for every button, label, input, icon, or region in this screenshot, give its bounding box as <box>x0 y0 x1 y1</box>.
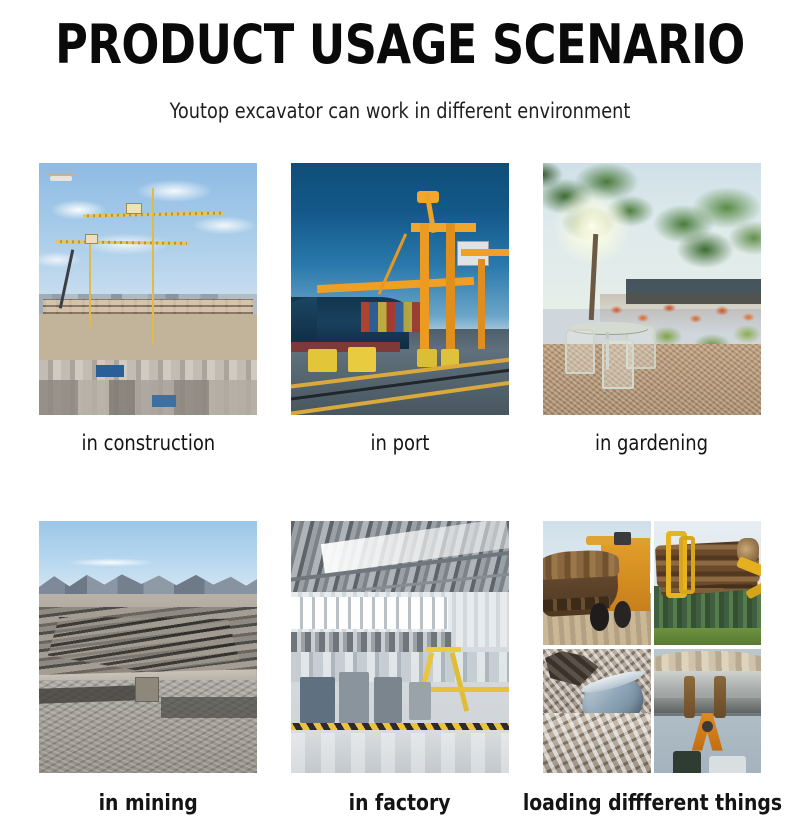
helicopter-icon <box>50 176 72 181</box>
gardening-photo <box>543 163 761 415</box>
second-crane-leg <box>478 259 485 350</box>
foreground-rubble <box>543 713 651 773</box>
patio-chair <box>602 339 634 388</box>
construction-slab-layer <box>39 380 257 415</box>
scenario-card-gardening[interactable]: in gardening <box>543 163 761 455</box>
tower-crane-mast-secondary <box>89 241 91 327</box>
yellow-guard-rail <box>417 687 509 692</box>
loading-collage-photo <box>543 521 761 773</box>
yellow-terminal-truck <box>308 349 336 372</box>
loader-wheel <box>590 603 608 630</box>
floor-reflection <box>291 733 509 773</box>
gantry-crane-leg-left <box>420 223 429 349</box>
gallery-row: in construction <box>0 163 800 455</box>
stacked-containers <box>361 302 422 332</box>
bucket-lug <box>714 676 726 718</box>
crane-operator-cab <box>126 203 142 214</box>
scenario-card-port[interactable]: in port <box>291 163 509 455</box>
gallery-row: in mining <box>0 521 800 816</box>
scenario-caption: in gardening <box>595 431 708 455</box>
scenario-caption: loading diffferent things <box>522 792 781 816</box>
operator-cab <box>673 751 701 773</box>
log-grapple-claw <box>679 536 695 594</box>
scenario-caption: in port <box>371 431 430 455</box>
mining-photo <box>39 521 257 773</box>
soil-load <box>543 549 619 581</box>
helicopter-rotor-icon <box>46 173 76 175</box>
scenario-card-factory[interactable]: in factory <box>291 521 509 816</box>
collage-panel-sand-bucket <box>654 649 762 774</box>
second-crane-top-beam <box>461 249 509 256</box>
collage-grid <box>543 521 761 773</box>
factory-machine <box>374 677 402 722</box>
collage-panel-rubble <box>543 649 651 774</box>
factory-machine <box>409 682 431 720</box>
window-band <box>291 597 448 630</box>
processing-plant-structure <box>135 677 159 702</box>
factory-photo <box>291 521 509 773</box>
collage-panel-log-grapple <box>654 521 762 646</box>
scenario-card-mining[interactable]: in mining <box>39 521 257 816</box>
yellow-terminal-truck <box>417 349 437 367</box>
loader-body <box>709 756 746 773</box>
scenario-card-loading[interactable]: loading diffferent things <box>543 521 761 816</box>
scenario-caption: in construction <box>81 431 215 455</box>
bucket-underside-shadow <box>654 698 762 715</box>
scenario-card-construction[interactable]: in construction <box>39 163 257 455</box>
bucket-lug <box>684 676 696 718</box>
product-usage-scenario-page: PRODUCT USAGE SCENARIO Youtop excavator … <box>0 0 800 797</box>
blue-container <box>96 365 124 378</box>
scaffolding-layer <box>39 314 257 359</box>
yellow-terminal-truck <box>348 347 376 372</box>
page-subtitle: Youtop excavator can work in different e… <box>24 76 776 124</box>
patio-chair <box>565 329 595 373</box>
construction-photo <box>39 163 257 415</box>
factory-machine <box>339 672 370 722</box>
scenario-gallery: in construction <box>0 163 800 816</box>
cloud-streak <box>52 556 170 569</box>
ship-waterline-stripe <box>291 342 400 352</box>
gantry-crane-leg-right <box>446 223 455 349</box>
pivot-pin <box>702 721 713 732</box>
page-header: PRODUCT USAGE SCENARIO Youtop excavator … <box>0 0 800 124</box>
dark-ore-seam <box>161 697 257 717</box>
port-photo <box>291 163 509 415</box>
sky-layer <box>39 521 257 587</box>
loader-wheel <box>614 601 631 628</box>
operator-cab <box>614 532 631 544</box>
factory-machine <box>300 677 335 722</box>
scenario-caption: in mining <box>98 792 197 816</box>
collage-panel-soil-bucket <box>543 521 651 646</box>
yellow-gantry-top <box>426 647 461 652</box>
blue-container-secondary <box>152 395 176 408</box>
scenario-caption: in factory <box>349 792 451 816</box>
crane-operator-cab-secondary <box>85 234 98 244</box>
grass-strip <box>654 628 762 645</box>
page-title: PRODUCT USAGE SCENARIO <box>32 8 768 76</box>
tower-crane-mast <box>152 188 154 344</box>
